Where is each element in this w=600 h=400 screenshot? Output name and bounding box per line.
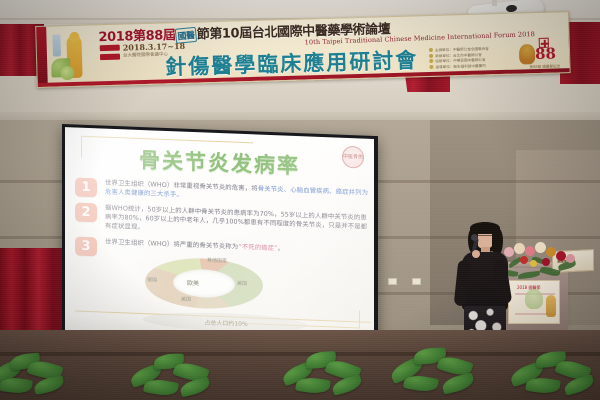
- donut-segment-label-other: 其他国家: [207, 257, 227, 265]
- org-line-3: 指導單位：衛生福利部中醫藥司: [435, 63, 485, 68]
- logo-number: 88: [535, 44, 556, 63]
- bullet-text: 世界卫生组织（WHO）将严重的骨关节炎称为“不死的癌症”。: [105, 237, 284, 253]
- wall-socket-2: [412, 278, 421, 285]
- banner-venue: 台大醫院國際會議中心: [123, 51, 168, 58]
- banner-date-tag: [100, 45, 120, 52]
- donut-segment-label-germany: 德国: [147, 276, 157, 283]
- bullet-number-badge: 2: [75, 202, 97, 222]
- microphone-head-icon: [471, 234, 478, 241]
- bullet-text: 世界卫生组织（WHO）非常重视骨关节炎的危害，将骨关节炎、心脑血管疾病、癌症并列…: [105, 179, 373, 208]
- herb-leaf-icon-2: [60, 66, 74, 80]
- podium-sign-figure-icon: [546, 295, 556, 317]
- banner-venue-tag: [100, 54, 120, 61]
- bullet-number-badge: 3: [75, 236, 97, 256]
- wall-socket-1: [388, 278, 397, 285]
- banner-red-bar-left: [36, 27, 48, 87]
- bullet-number-badge: 1: [75, 177, 97, 197]
- speaker-glasses-icon: [477, 235, 493, 238]
- slide-bullet-item: 2 据WHO统计，50岁以上的人群中骨关节炎的患病率为70%，55岁以上的人群中…: [75, 202, 373, 241]
- slide-title: 骨关节炎发病率: [65, 141, 374, 183]
- podium-sign-tree-icon: [525, 289, 543, 309]
- org-line-0: 主辦單位：中醫師公會全國聯合會: [435, 47, 489, 53]
- donut-center-label: 欧美: [187, 278, 199, 287]
- donut-segment-label-usa: 美国: [237, 280, 247, 287]
- bullet-text: 据WHO统计，50岁以上的人群中骨关节炎的患病率为70%，55岁以上的人群中关节…: [105, 204, 373, 242]
- projection-screen: 中医骨伤 骨关节炎发病率 1 世界卫生组织（WHO）非常重视骨关节炎的危害，将骨…: [65, 127, 374, 353]
- potted-plant: [0, 344, 80, 400]
- banner-illustration: [50, 31, 97, 82]
- org-line-2: 協辦單位：中華民國中醫師公會: [435, 58, 485, 63]
- projector-mount: [492, 0, 497, 6]
- potted-plant: [280, 346, 375, 400]
- potted-plant: [390, 344, 485, 400]
- bullet-text-tail: 。: [278, 244, 285, 252]
- conference-photo: 2018第88屆國醫節第10屆台北國際中醫藥學術論壇 10th Taipei T…: [0, 0, 600, 400]
- speaker-hand: [472, 250, 480, 258]
- banner-anniversary-logo: 88 第88屆 國醫節紀念: [517, 40, 562, 71]
- banner-organizer-list: 主辦單位：中醫師公會全國聯合會 承辦單位：台北市中醫師公會 協辦單位：中華民國中…: [429, 46, 489, 70]
- logo-figure-icon: [519, 44, 536, 64]
- bullet-text-plain: 世界卫生组织（WHO）将严重的骨关节炎称为: [105, 237, 238, 250]
- logo-subtitle: 第88屆 國醫節紀念: [529, 64, 560, 70]
- potted-plant: [510, 346, 600, 400]
- donut-segment-label-uk: 英国: [181, 296, 191, 303]
- potted-plant: [130, 346, 225, 400]
- projection-screen-frame: 中医骨伤 骨关节炎发病率 1 世界卫生组织（WHO）非常重视骨关节炎的危害，将骨…: [62, 124, 378, 358]
- slide-donut-chart: 欧美 其他国家 美国 英国 德国 占总人口约10%: [121, 253, 311, 324]
- bullet-text-highlight: “不死的癌症”: [238, 242, 277, 252]
- herb-vial-icon: [52, 34, 61, 56]
